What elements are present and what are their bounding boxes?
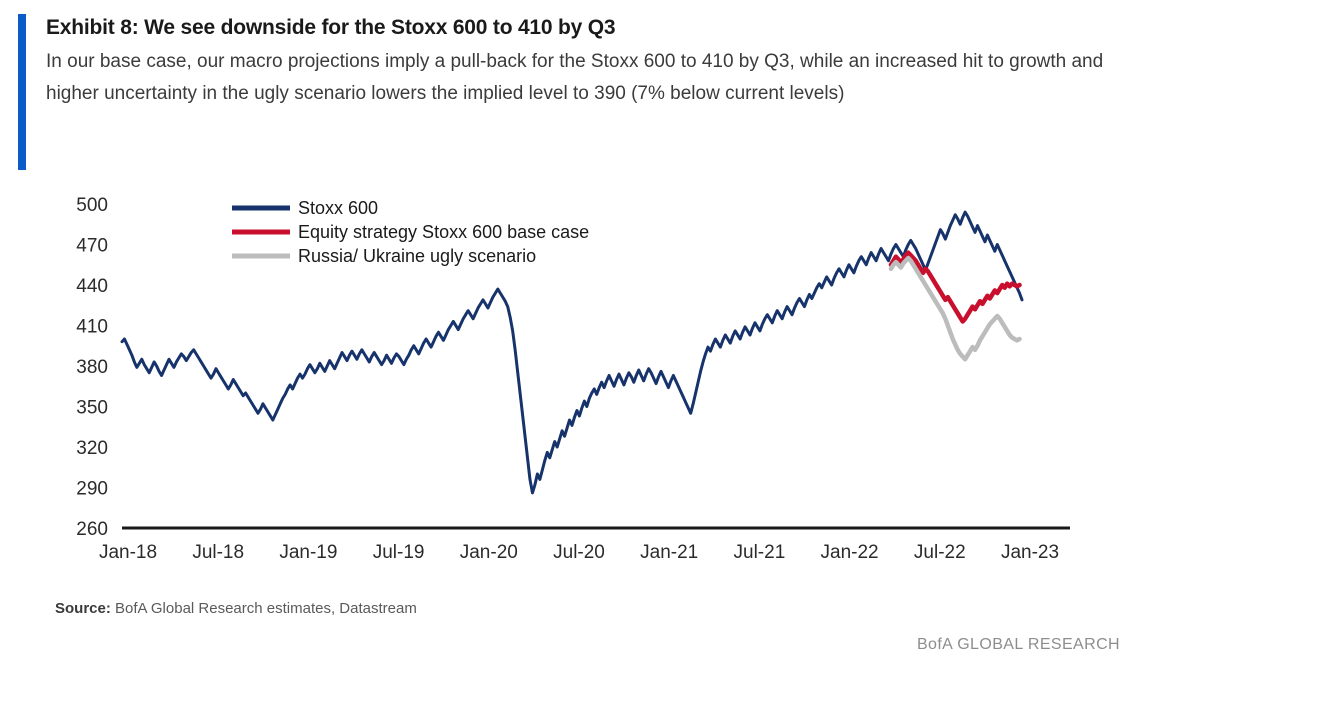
y-tick-label: 470 <box>76 236 108 257</box>
x-tick-label: Jul-22 <box>914 542 966 563</box>
x-tick-label: Jul-20 <box>553 542 605 563</box>
x-axis: Jan-18Jul-18Jan-19Jul-19Jan-20Jul-20Jan-… <box>99 542 1059 563</box>
chart-container: 260290320350380410440470500 Jan-18Jul-18… <box>0 186 1120 576</box>
source-text: BofA Global Research estimates, Datastre… <box>111 600 417 617</box>
page-title: Exhibit 8: We see downside for the Stoxx… <box>46 14 1108 42</box>
legend-label-1: Stoxx 600 <box>298 198 378 218</box>
source-line: Source: BofA Global Research estimates, … <box>55 600 417 617</box>
y-axis: 260290320350380410440470500 <box>76 195 108 540</box>
x-tick-label: Jul-21 <box>734 542 786 563</box>
exhibit-header: Exhibit 8: We see downside for the Stoxx… <box>18 14 1108 110</box>
x-tick-label: Jan-19 <box>279 542 337 563</box>
exhibit-subtitle: In our base case, our macro projections … <box>46 46 1106 110</box>
x-tick-label: Jan-23 <box>1001 542 1059 563</box>
y-tick-label: 410 <box>76 317 108 338</box>
brand-line: BofA GLOBAL RESEARCH <box>0 636 1120 654</box>
source-label: Source: <box>55 600 111 617</box>
y-tick-label: 320 <box>76 438 108 459</box>
y-tick-label: 500 <box>76 195 108 216</box>
line-chart: 260290320350380410440470500 Jan-18Jul-18… <box>0 186 1120 576</box>
x-tick-label: Jan-22 <box>821 542 879 563</box>
x-tick-label: Jan-18 <box>99 542 157 563</box>
x-tick-label: Jul-19 <box>373 542 425 563</box>
y-tick-label: 380 <box>76 357 108 378</box>
y-tick-label: 290 <box>76 479 108 500</box>
x-tick-label: Jan-21 <box>640 542 698 563</box>
x-tick-label: Jan-20 <box>460 542 518 563</box>
chart-legend: Stoxx 600Equity strategy Stoxx 600 base … <box>232 198 589 266</box>
y-tick-label: 260 <box>76 519 108 540</box>
x-tick-label: Jul-18 <box>192 542 244 563</box>
y-tick-label: 350 <box>76 398 108 419</box>
legend-label-2: Equity strategy Stoxx 600 base case <box>298 222 589 242</box>
y-tick-label: 440 <box>76 276 108 297</box>
legend-label-3: Russia/ Ukraine ugly scenario <box>298 246 536 266</box>
